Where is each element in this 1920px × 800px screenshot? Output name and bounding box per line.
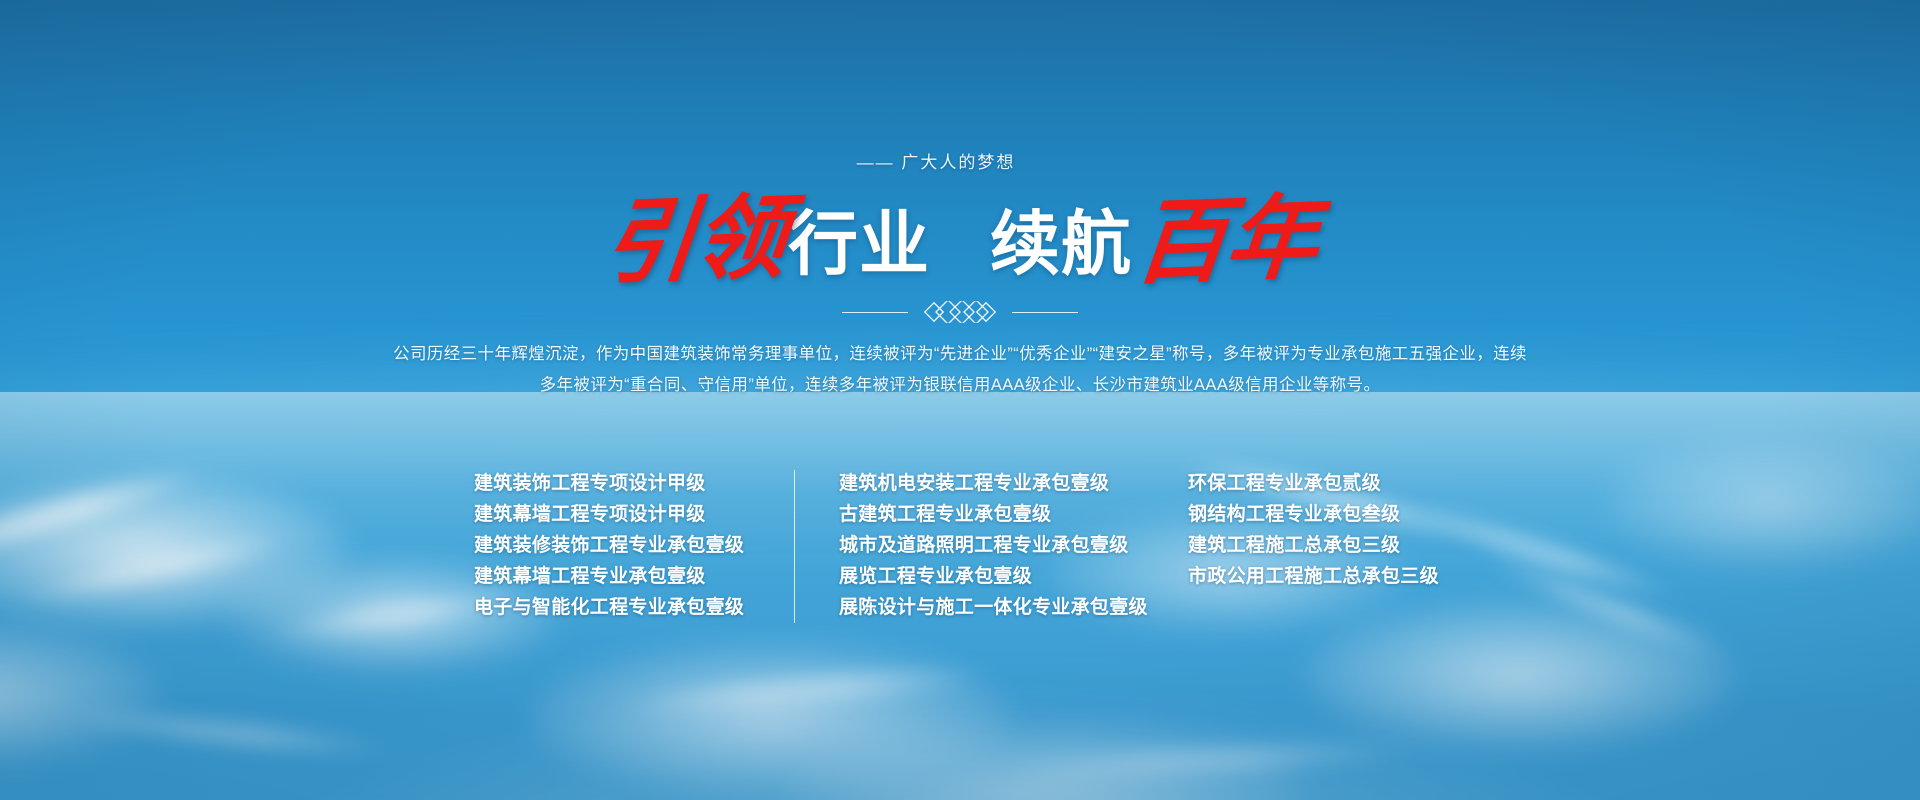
headline-segment-industry: 行业 bbox=[784, 209, 934, 283]
divider-rule-left bbox=[842, 312, 908, 313]
company-description-line-1: 公司历经三十年辉煌沉淀，作为中国建筑装饰常务理事单位，连续被评为“先进企业”“优… bbox=[370, 339, 1550, 370]
diamond-divider-icon bbox=[842, 301, 1078, 323]
divider-rule-right bbox=[1012, 312, 1078, 313]
company-description: 公司历经三十年辉煌沉淀，作为中国建筑装饰常务理事单位，连续被评为“先进企业”“优… bbox=[370, 339, 1550, 401]
eyebrow-text: —— 广大人的梦想 bbox=[857, 148, 1016, 173]
company-description-line-2: 多年被评为“重合同、守信用”单位，连续多年被评为银联信用AAA级企业、长沙市建筑… bbox=[370, 370, 1550, 401]
headline-segment-century-red: 百年 bbox=[1131, 195, 1321, 286]
page-title: 引领 行业 续航 百年 bbox=[604, 187, 1316, 283]
headline-segment-endurance: 续航 bbox=[986, 209, 1136, 283]
diamond-glyph-icon bbox=[922, 301, 998, 323]
headline-segment-lead-red: 引领 bbox=[599, 195, 789, 286]
hero-banner: —— 广大人的梦想 引领 行业 续航 百年 公司历经三十年辉煌沉淀，作为中国建筑… bbox=[0, 0, 1920, 800]
